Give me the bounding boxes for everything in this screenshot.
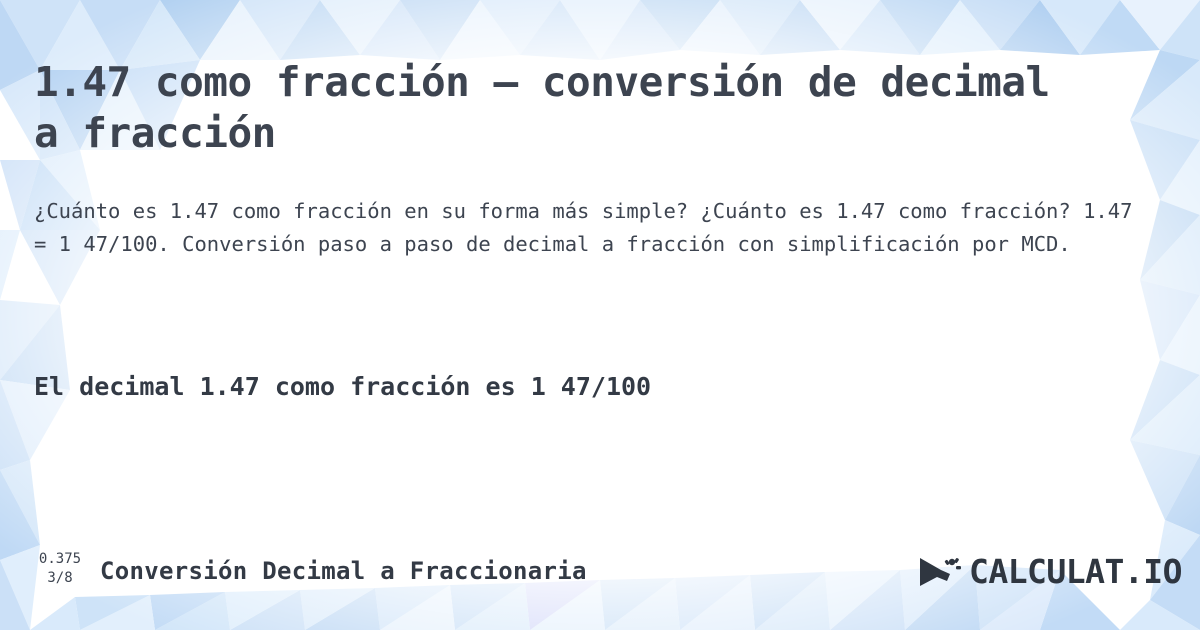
answer-statement: El decimal 1.47 como fracción es 1 47/10… xyxy=(34,370,1154,404)
fraction-decimal-value: 0.375 xyxy=(28,550,92,569)
footer: 0.375 3/8 Conversión Decimal a Fracciona… xyxy=(0,540,1200,630)
fraction-fraction-value: 3/8 xyxy=(28,569,92,588)
content-layer: 1.47 como fracción – conversión de decim… xyxy=(0,0,1200,630)
page-description: ¿Cuánto es 1.47 como fracción en su form… xyxy=(34,195,1154,261)
brand-logo: CALCULAT.IO xyxy=(917,552,1182,592)
footer-label: Conversión Decimal a Fraccionaria xyxy=(100,554,587,588)
calculator-mouse-icon xyxy=(917,555,963,589)
page-title: 1.47 como fracción – conversión de decim… xyxy=(34,57,1084,159)
fraction-example-badge: 0.375 3/8 xyxy=(28,550,92,588)
brand-name: CALCULAT.IO xyxy=(969,554,1182,590)
page-root: 1.47 como fracción – conversión de decim… xyxy=(0,0,1200,630)
